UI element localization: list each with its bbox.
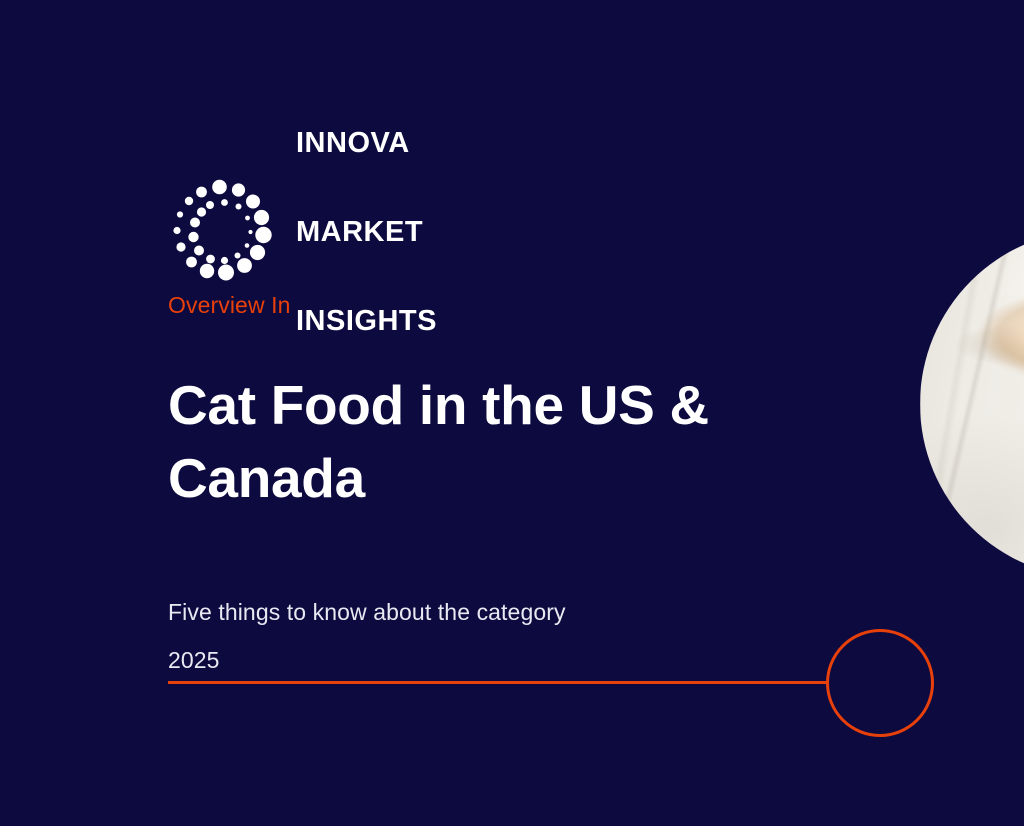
- innova-dot-spiral-icon: [168, 178, 278, 288]
- eyebrow-label: Overview In: [168, 292, 291, 319]
- cat-photo-image: [920, 230, 1024, 578]
- innova-logo[interactable]: INNOVA MARKET INSIGHTS: [168, 70, 437, 395]
- innova-wordmark: INNOVA MARKET INSIGHTS: [296, 70, 437, 395]
- accent-circle: [826, 629, 934, 737]
- logo-line-1: INNOVA: [296, 129, 437, 159]
- page-title: Cat Food in the US & Canada: [168, 369, 808, 515]
- subtitle-text: Five things to know about the category: [168, 599, 566, 626]
- cat-photo-circle: [920, 230, 1024, 578]
- year-text: 2025: [168, 647, 220, 674]
- accent-rule: [168, 681, 828, 684]
- title-slide: INNOVA MARKET INSIGHTS Overview In Cat F…: [0, 0, 1024, 826]
- logo-line-3: INSIGHTS: [296, 307, 437, 337]
- logo-line-2: MARKET: [296, 218, 437, 248]
